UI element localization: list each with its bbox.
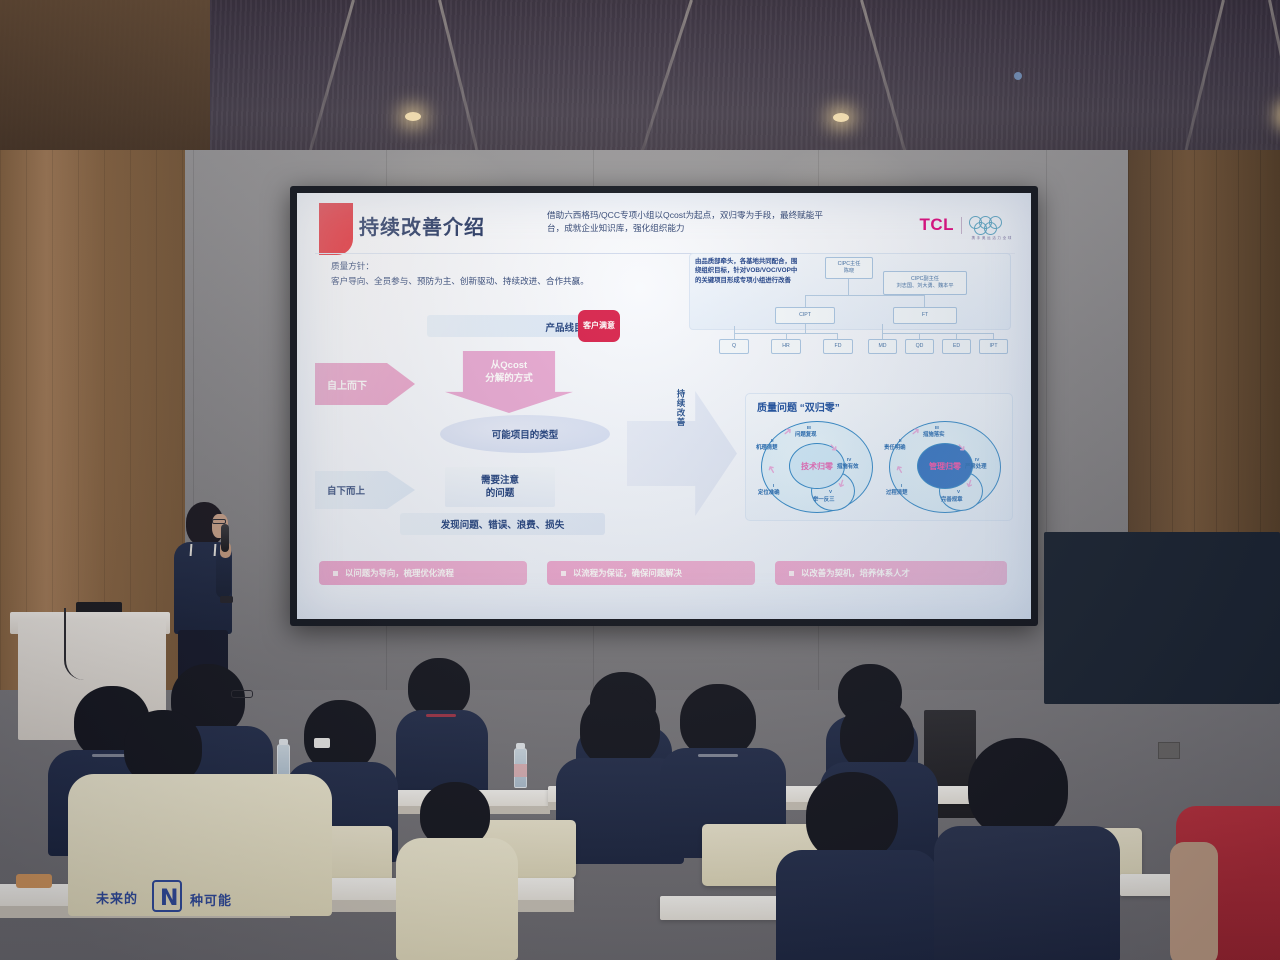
- org-leaf-ipt-label: IPT: [989, 343, 997, 350]
- org-leaf-ipt: IPT: [979, 339, 1008, 354]
- attendee-arm: [1170, 842, 1218, 960]
- attendee-head: [968, 738, 1068, 838]
- tech-numeral-4: IV: [847, 457, 851, 462]
- mgmt-step-1: 过程清楚: [886, 490, 908, 497]
- org-chair-name: 陈晓: [844, 268, 854, 275]
- whiteboard-frame: [1044, 532, 1280, 704]
- olympic-rings-icon: [969, 215, 1013, 235]
- org-chart-note: 由品质部牵头，各基地共同配合，围绕组织目标，针对VOB/VOC/VOP中的关键项…: [695, 257, 803, 285]
- org-vice-title: CIPC副主任: [911, 276, 939, 283]
- tech-step-5: 举一反三: [813, 497, 835, 504]
- wall-socket: [1158, 742, 1180, 759]
- management-zero-diagram: 管理归零 III 措施落实 II 责任明确 IV 严肃处理 I 过程清楚 V 完…: [883, 419, 1007, 515]
- bottle-cap-2: [516, 743, 525, 749]
- org-leaf-hr: HR: [771, 339, 801, 354]
- mgmt-numeral-2: II: [899, 438, 902, 443]
- presenter-arm: [216, 554, 231, 598]
- org-vice-names: 刘志国、刘大勇、魏本平: [896, 283, 953, 290]
- bullet-square-icon: [789, 571, 794, 576]
- org-leaf-hr-label: HR: [782, 343, 790, 350]
- ceiling-sensor-dot: [1014, 72, 1022, 80]
- project-types-ellipse: 可能项目的类型: [440, 415, 610, 453]
- attendee-head: [408, 658, 470, 718]
- tshirt-text-mark: N: [160, 886, 179, 911]
- bottom-up-arrow: 自下而上: [315, 471, 415, 509]
- projection-screen: 持续改善介绍 借助六西格玛/QCC专项小组以Qcost为起点，双归零为手段，最终…: [297, 193, 1031, 619]
- presenter-polo-collar: [190, 544, 217, 556]
- bottle-label-2: [514, 764, 527, 777]
- footer-bar-1-label: 以问题为导向，梳理优化流程: [345, 567, 454, 579]
- tshirt-text-right: 种可能: [190, 890, 232, 909]
- org-box-cipt: CIPT: [775, 307, 835, 324]
- attendee-head: [806, 772, 898, 862]
- microphone: [221, 524, 229, 552]
- mgmt-numeral-3: III: [935, 425, 939, 430]
- org-leaf-q: Q: [719, 339, 749, 354]
- org-leaf-qd-label: QD: [916, 343, 924, 350]
- tcl-wordmark: TCL: [919, 215, 954, 235]
- double-zero-title: 质量问题 “双归零”: [757, 399, 840, 414]
- tech-step-4: 措施有效: [837, 464, 859, 471]
- tech-numeral-2: II: [771, 438, 774, 443]
- mgmt-numeral-1: I: [901, 483, 902, 488]
- presentation-room-photo: 持续改善介绍 借助六西格玛/QCC专项小组以Qcost为起点，双归零为手段，最终…: [0, 0, 1280, 960]
- tcl-logo: TCL: [919, 215, 1013, 235]
- tcl-tagline: 携手奥运活力全球: [971, 236, 1013, 241]
- org-leaf-ed: ED: [942, 339, 971, 354]
- attendee-torso: [396, 710, 488, 794]
- org-chair-title: CIPC主任: [838, 261, 861, 268]
- mgmt-numeral-4: IV: [975, 457, 979, 462]
- qcost-line-2: 分解的方式: [485, 373, 533, 386]
- tech-step-2: 机理清楚: [756, 445, 778, 452]
- project-types-label: 可能项目的类型: [492, 427, 559, 441]
- top-down-arrow: 自上而下: [315, 363, 415, 405]
- quality-policy-heading: 质量方针：: [331, 259, 589, 274]
- ceiling-spotlight-1: [405, 112, 421, 121]
- bottle-cap-1: [279, 739, 288, 745]
- mgmt-step-5: 完善规章: [941, 497, 963, 504]
- tech-numeral-5: V: [829, 489, 832, 494]
- slide-subtitle: 借助六西格玛/QCC专项小组以Qcost为起点，双归零为手段，最终赋能平台，成就…: [547, 209, 837, 236]
- footer-bar-3-label: 以改善为契机，培养体系人才: [801, 567, 910, 579]
- org-leaf-md-label: MD: [878, 343, 886, 350]
- attendee-head: [580, 692, 660, 768]
- org-ft-label: FT: [922, 312, 928, 319]
- quality-policy-body: 客户导向、全员参与、预防为主、创新驱动、持续改进、合作共赢。: [331, 274, 589, 289]
- attendee-torso: [776, 850, 938, 960]
- footer-bar-1: 以问题为导向，梳理优化流程: [319, 561, 527, 585]
- projection-screen-frame: 持续改善介绍 借助六西格玛/QCC专项小组以Qcost为起点，双归零为手段，最终…: [290, 186, 1038, 626]
- mgmt-step-3: 措施落实: [923, 432, 945, 439]
- podium-cable: [64, 608, 92, 680]
- slide-title: 持续改善介绍: [359, 211, 485, 240]
- footer-bar-3: 以改善为契机，培养体系人才: [775, 561, 1007, 585]
- find-problems-bar: 发现问题、错误、浪费、损失: [400, 513, 605, 535]
- quality-policy: 质量方针： 客户导向、全员参与、预防为主、创新驱动、持续改进、合作共赢。: [331, 259, 589, 288]
- ceiling-wood-panel: [0, 0, 210, 160]
- continuous-improvement-label: 持续改善: [671, 389, 685, 427]
- footer-bar-2: 以流程为保证，确保问题解决: [547, 561, 755, 585]
- org-leaf-fd-label: FD: [835, 343, 842, 350]
- org-box-vice-chair: CIPC副主任 刘志国、刘大勇、魏本平: [883, 271, 967, 295]
- slide-content: 持续改善介绍 借助六西格玛/QCC专项小组以Qcost为起点，双归零为手段，最终…: [297, 193, 1031, 619]
- logo-divider: [961, 217, 962, 234]
- qcost-line-1: 从Qcost: [491, 360, 527, 373]
- red-flag-accent: [319, 203, 353, 255]
- hair-clip: [314, 738, 330, 748]
- org-box-ft: FT: [893, 307, 957, 324]
- org-cipt-label: CIPT: [799, 312, 811, 319]
- attendee-glasses: [231, 690, 253, 698]
- org-leaf-q-label: Q: [732, 343, 736, 350]
- top-down-label: 自上而下: [327, 377, 367, 392]
- attention-note-line-1: 需要注意: [481, 474, 519, 487]
- table-object: [16, 874, 52, 888]
- qcost-decompose-arrow: 从Qcost 分解的方式: [445, 351, 573, 413]
- ceiling-spotlight-2: [833, 113, 849, 122]
- bullet-square-icon: [333, 571, 338, 576]
- customer-satisfaction-badge: 客户满意: [578, 310, 620, 342]
- org-leaf-ed-label: ED: [953, 343, 960, 350]
- org-box-chair: CIPC主任 陈晓: [825, 257, 873, 279]
- footer-bar-2-label: 以流程为保证，确保问题解决: [573, 567, 682, 579]
- find-problems-label: 发现问题、错误、浪费、损失: [441, 517, 565, 531]
- org-leaf-fd: FD: [823, 339, 853, 354]
- attention-note-line-2: 的问题: [486, 487, 515, 500]
- attendee-head: [680, 684, 756, 758]
- attention-note-box: 需要注意 的问题: [445, 467, 555, 507]
- tshirt-text-left: 未来的: [96, 888, 138, 907]
- org-leaf-qd: QD: [905, 339, 934, 354]
- bullet-square-icon: [561, 571, 566, 576]
- bottom-up-label: 自下而上: [327, 483, 365, 497]
- attendee-torso: [934, 826, 1120, 960]
- tech-step-3: 问题复现: [795, 432, 817, 439]
- tech-numeral-1: I: [773, 483, 774, 488]
- slide-header: 持续改善介绍 借助六西格玛/QCC专项小组以Qcost为起点，双归零为手段，最终…: [297, 203, 1031, 259]
- technical-zero-diagram: 技术归零 III 问题复现 II 机理清楚 IV 措施有效 I 定位准确 V 举…: [755, 419, 879, 515]
- tech-numeral-3: III: [807, 425, 811, 430]
- presentation-clicker: [220, 596, 233, 603]
- mgmt-step-2: 责任明确: [884, 445, 906, 452]
- mgmt-numeral-5: V: [957, 489, 960, 494]
- org-leaf-md: MD: [868, 339, 897, 354]
- tech-step-1: 定位准确: [758, 490, 780, 497]
- attendee-cream-torso: [396, 838, 518, 960]
- mgmt-step-4: 严肃处理: [965, 464, 987, 471]
